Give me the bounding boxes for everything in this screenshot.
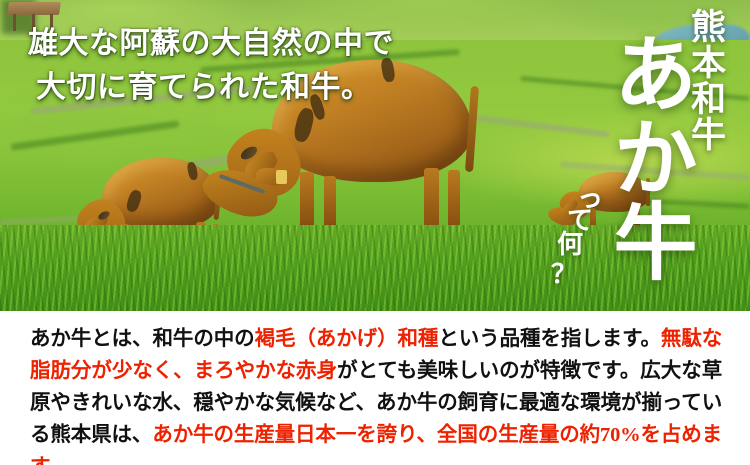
akaushi-promo-banner: 雄大な阿蘇の大自然の中で 大切に育てられた和牛。 熊本和牛 あか牛 っ て 何 … [0, 0, 750, 465]
headline-line-1: 雄大な阿蘇の大自然の中で [28, 22, 394, 66]
question-char-2: 何 [557, 231, 583, 257]
description-paragraph: あか牛とは、和牛の中の褐毛（あかげ）和種という品種を指します。無駄な脂肪分が少な… [30, 323, 722, 465]
hero-photo: 雄大な阿蘇の大自然の中で 大切に育てられた和牛。 熊本和牛 あか牛 っ て 何 … [0, 0, 750, 311]
vertical-question-text: っ て 何 ？ [543, 185, 613, 290]
copy-seg-1-highlight: 褐毛（あかげ）和種 [255, 328, 439, 350]
hero-headline: 雄大な阿蘇の大自然の中で 大切に育てられた和牛。 [28, 22, 394, 110]
vertical-product-title: あか牛 [605, 30, 692, 282]
copy-seg-2: という品種を指します。 [438, 328, 661, 350]
copy-seg-0: あか牛とは、和牛の中の [30, 328, 255, 350]
description-panel: あか牛とは、和牛の中の褐毛（あかげ）和種という品種を指します。無駄な脂肪分が少な… [0, 311, 750, 465]
headline-line-2: 大切に育てられた和牛。 [36, 66, 394, 110]
question-char-3: ？ [551, 261, 577, 287]
